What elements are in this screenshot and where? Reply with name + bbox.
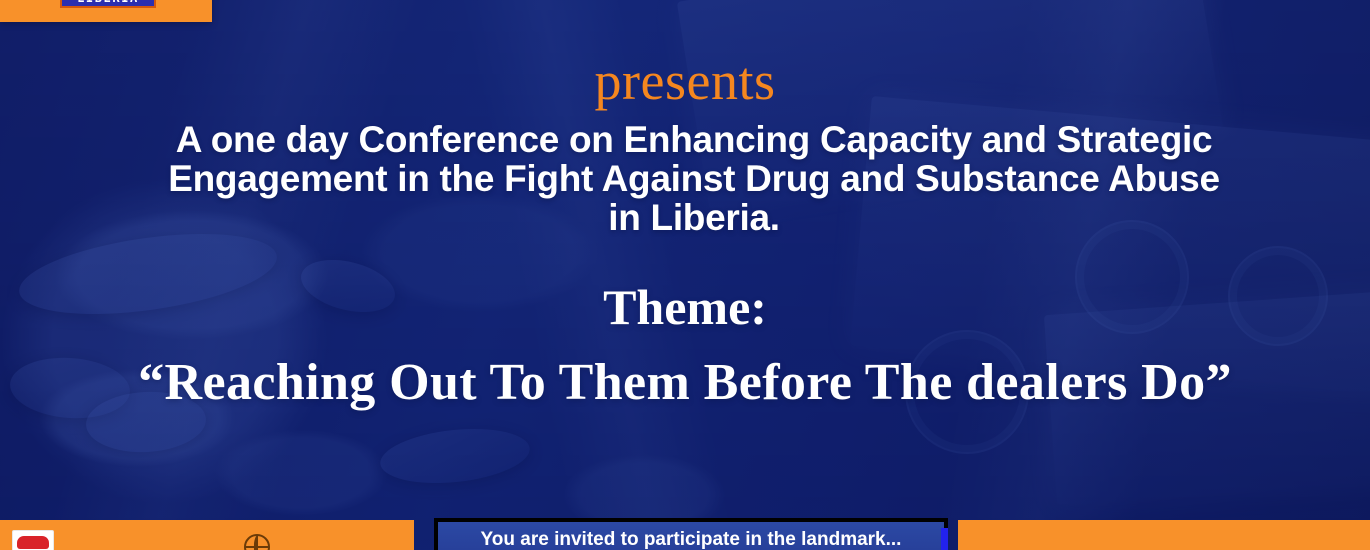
footer-right-panel: ☎ 0818818864/0777868885 [958,520,1370,550]
footer-left-panel [0,520,414,550]
flyer-content: presents A one day Conference on Enhanci… [0,0,1370,550]
org-logo-mark [17,536,49,549]
globe-icon [244,534,270,550]
footer-strip: You are invited to participate in the la… [0,516,1370,550]
footer-center-accent-tab [941,528,948,550]
brand-wordmark: LIBERIA [60,0,156,8]
conference-title-line-1: A one day Conference on Enhancing Capaci… [62,120,1326,159]
footer-center-panel: You are invited to participate in the la… [434,518,948,550]
org-logo [12,530,54,550]
theme-quote: “Reaching Out To Them Before The dealers… [0,350,1370,416]
brand-panel: LIBERIA [0,0,212,22]
presents-label: presents [0,52,1370,110]
theme-label: Theme: [0,278,1370,336]
conference-title-line-3: in Liberia. [62,198,1326,237]
footer-center-inner: You are invited to participate in the la… [438,522,944,550]
conference-flyer: LIBERIA presents A one day Conference on… [0,0,1370,550]
conference-title: A one day Conference on Enhancing Capaci… [62,120,1326,237]
conference-title-line-2: Engagement in the Fight Against Drug and… [62,159,1326,198]
invitation-text: You are invited to participate in the la… [438,529,944,550]
